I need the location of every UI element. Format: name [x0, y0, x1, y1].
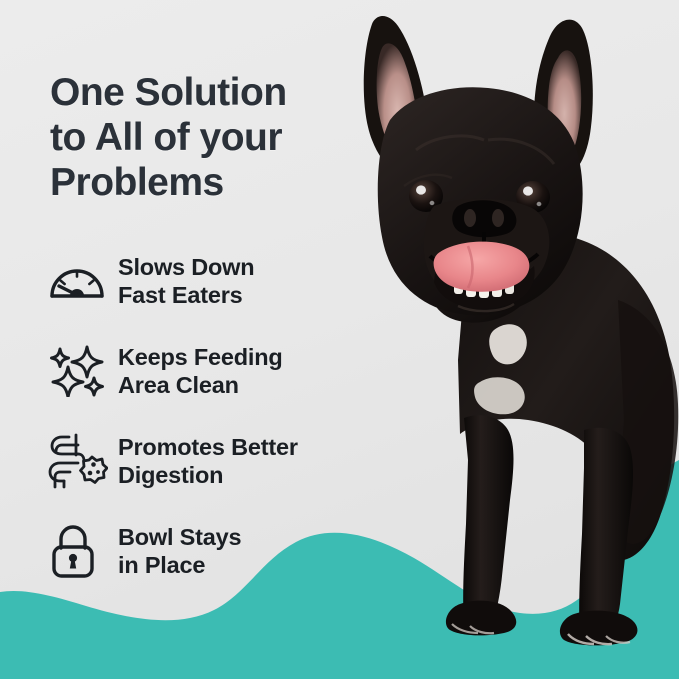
promo-panel: One Solution to All of your Problems Slo… — [0, 0, 679, 679]
feature-line-2: Fast Eaters — [118, 281, 254, 309]
feature-line-1: Bowl Stays — [118, 523, 241, 551]
sparkles-icon — [44, 340, 118, 402]
headline-line-3: Problems — [50, 160, 370, 205]
feature-line-1: Slows Down — [118, 253, 254, 281]
headline-line-2: to All of your — [50, 115, 370, 160]
padlock-icon — [44, 520, 118, 582]
feature-item-keeps-feeding-area-clean: Keeps Feeding Area Clean — [44, 326, 374, 416]
feature-line-2: in Place — [118, 551, 241, 579]
feature-line-1: Keeps Feeding — [118, 343, 283, 371]
feature-line-1: Promotes Better — [118, 433, 298, 461]
feature-item-bowl-stays-in-place: Bowl Stays in Place — [44, 506, 374, 596]
feature-line-2: Area Clean — [118, 371, 283, 399]
speedometer-icon — [44, 250, 118, 312]
feature-label: Keeps Feeding Area Clean — [118, 343, 283, 399]
intestines-germ-icon — [44, 430, 118, 492]
feature-label: Slows Down Fast Eaters — [118, 253, 254, 309]
page-title: One Solution to All of your Problems — [50, 70, 370, 205]
feature-label: Bowl Stays in Place — [118, 523, 241, 579]
feature-list: Slows Down Fast Eaters — [44, 236, 374, 596]
feature-label: Promotes Better Digestion — [118, 433, 298, 489]
feature-line-2: Digestion — [118, 461, 298, 489]
feature-item-promotes-better-digestion: Promotes Better Digestion — [44, 416, 374, 506]
headline-line-1: One Solution — [50, 70, 370, 115]
feature-item-slows-down-fast-eaters: Slows Down Fast Eaters — [44, 236, 374, 326]
